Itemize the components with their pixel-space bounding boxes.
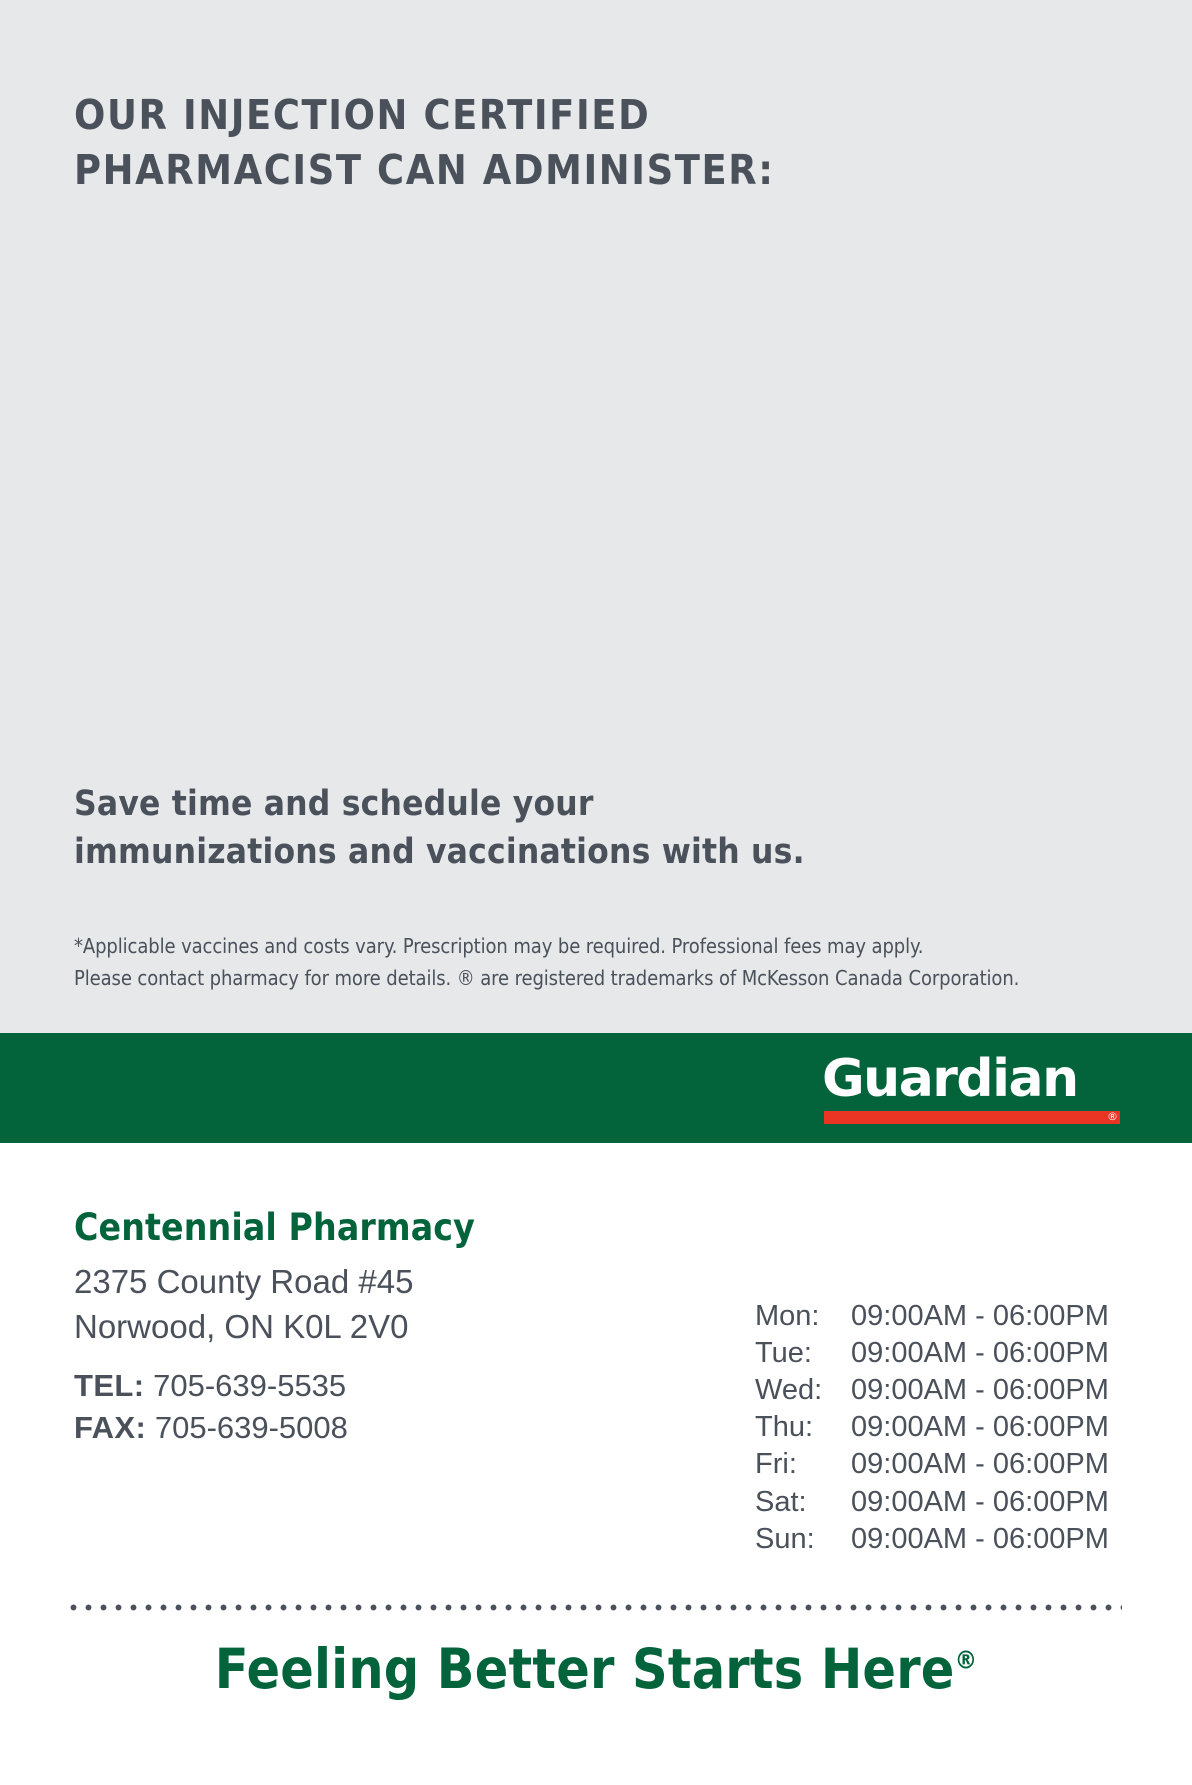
telephone-row: TEL: 705-639-5535	[74, 1365, 348, 1407]
fax-row: FAX: 705-639-5008	[74, 1407, 348, 1449]
store-address: 2375 County Road #45 Norwood, ON K0L 2V0	[74, 1260, 413, 1349]
guardian-wordmark: Guardian	[822, 1049, 1122, 1109]
disclaimer-text: *Applicable vaccines and costs vary. Pre…	[74, 931, 1134, 994]
hours-time-value: 09:00AM - 06:00PM	[851, 1298, 1109, 1335]
page-title: OUR INJECTION CERTIFIED PHARMACIST CAN A…	[74, 88, 934, 199]
hours-day-label: Sun:	[755, 1521, 851, 1558]
hours-day-label: Tue:	[755, 1335, 851, 1372]
tagline: Feeling Better Starts Here®	[0, 1637, 1192, 1701]
fax-label: FAX:	[74, 1410, 146, 1445]
hours-time-value: 09:00AM - 06:00PM	[851, 1409, 1109, 1446]
store-footer: Centennial Pharmacy 2375 County Road #45…	[0, 1143, 1192, 1785]
hours-day-label: Thu:	[755, 1409, 851, 1446]
store-contact: TEL: 705-639-5535 FAX: 705-639-5008	[74, 1365, 348, 1449]
hours-day-label: Wed:	[755, 1372, 851, 1409]
tagline-registered-icon: ®	[955, 1646, 978, 1675]
store-hours-table: Mon: 09:00AM - 06:00PM Tue: 09:00AM - 06…	[755, 1298, 1109, 1558]
registered-trademark-icon: ®	[1107, 1110, 1118, 1124]
disclaimer-line-1: *Applicable vaccines and costs vary. Pre…	[74, 931, 1134, 963]
hours-row: Wed: 09:00AM - 06:00PM	[755, 1372, 1109, 1409]
subheading-line-2: immunizations and vaccinations with us.	[74, 828, 974, 876]
hours-row: Fri: 09:00AM - 06:00PM	[755, 1446, 1109, 1483]
subheading-line-1: Save time and schedule your	[74, 780, 974, 828]
pharmacy-poster: OUR INJECTION CERTIFIED PHARMACIST CAN A…	[0, 0, 1192, 1785]
headline-line-2: PHARMACIST CAN ADMINISTER:	[74, 143, 934, 198]
hours-time-value: 09:00AM - 06:00PM	[851, 1335, 1109, 1372]
store-name: Centennial Pharmacy	[74, 1206, 475, 1249]
guardian-logo: Guardian ®	[822, 1049, 1122, 1131]
top-gray-panel: OUR INJECTION CERTIFIED PHARMACIST CAN A…	[0, 0, 1192, 1033]
dotted-divider	[66, 1603, 1122, 1612]
hours-row: Sat: 09:00AM - 06:00PM	[755, 1484, 1109, 1521]
hours-day-label: Mon:	[755, 1298, 851, 1335]
guardian-red-rule	[824, 1111, 1120, 1124]
hours-day-label: Fri:	[755, 1446, 851, 1483]
hours-row: Mon: 09:00AM - 06:00PM	[755, 1298, 1109, 1335]
telephone-value[interactable]: 705-639-5535	[153, 1368, 346, 1403]
address-line-2: Norwood, ON K0L 2V0	[74, 1305, 413, 1350]
hours-time-value: 09:00AM - 06:00PM	[851, 1484, 1109, 1521]
hours-row: Thu: 09:00AM - 06:00PM	[755, 1409, 1109, 1446]
headline-line-1: OUR INJECTION CERTIFIED	[74, 88, 934, 143]
disclaimer-line-2: Please contact pharmacy for more details…	[74, 963, 1134, 995]
fax-value: 705-639-5008	[155, 1410, 348, 1445]
vaccine-illustration-area	[74, 215, 1118, 665]
address-line-1: 2375 County Road #45	[74, 1260, 413, 1305]
hours-time-value: 09:00AM - 06:00PM	[851, 1521, 1109, 1558]
brand-band: Guardian ®	[0, 1033, 1192, 1143]
telephone-label: TEL:	[74, 1368, 144, 1403]
hours-row: Tue: 09:00AM - 06:00PM	[755, 1335, 1109, 1372]
subheading: Save time and schedule your immunization…	[74, 780, 974, 877]
hours-day-label: Sat:	[755, 1484, 851, 1521]
hours-row: Sun: 09:00AM - 06:00PM	[755, 1521, 1109, 1558]
hours-time-value: 09:00AM - 06:00PM	[851, 1372, 1109, 1409]
hours-time-value: 09:00AM - 06:00PM	[851, 1446, 1109, 1483]
tagline-text: Feeling Better Starts Here	[215, 1637, 955, 1701]
